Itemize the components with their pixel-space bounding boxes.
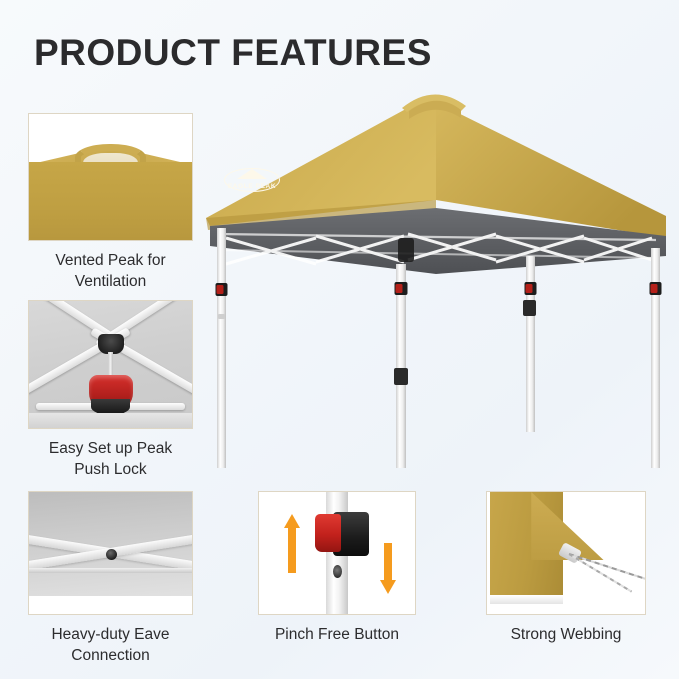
- vented-peak-canopy-body: [28, 162, 193, 240]
- logo-text: EAGLE PEAK: [224, 183, 280, 190]
- eagle-peak-logo: EAGLE PEAK: [224, 168, 280, 192]
- vented-peak-thumbnail: [28, 113, 193, 241]
- feature-card-vented-peak: Vented Peak for Ventilation: [28, 113, 193, 292]
- arrow-down-stem: [384, 543, 392, 582]
- eave-bolt: [106, 549, 117, 560]
- page-title: PRODUCT FEATURES: [34, 32, 432, 74]
- product-features-page: PRODUCT FEATURES: [0, 0, 679, 679]
- feature-card-eave-connection: Heavy-duty Eave Connection: [28, 491, 193, 666]
- push-lock-knob: [89, 375, 133, 411]
- strong-webbing-thumbnail: [486, 491, 646, 615]
- arrow-down-head: [380, 580, 396, 594]
- caption-line-1: Vented Peak for: [28, 250, 193, 271]
- caption-line-1: Strong Webbing: [486, 624, 646, 645]
- feature-card-pinch-free-button: Pinch Free Button: [258, 491, 416, 645]
- feature-caption: Pinch Free Button: [258, 624, 416, 645]
- eave-rail: [29, 568, 192, 573]
- feature-caption: Vented Peak for Ventilation: [28, 250, 193, 292]
- pole-hole: [333, 565, 342, 578]
- hero-canopy-image: EAGLE PEAK: [196, 78, 674, 468]
- feature-card-peak-push-lock: Easy Set up Peak Push Lock: [28, 300, 193, 480]
- arrow-up-icon: [284, 514, 300, 573]
- caption-line-2: Ventilation: [28, 271, 193, 292]
- canopy-hem: [490, 595, 563, 604]
- feature-caption: Easy Set up Peak Push Lock: [28, 438, 193, 480]
- peak-push-lock-thumbnail: [28, 300, 193, 429]
- mountain-peak-icon: [237, 169, 267, 179]
- pinch-free-button-thumbnail: [258, 491, 416, 615]
- arrow-down-icon: [380, 543, 396, 594]
- caption-line-1: Easy Set up Peak: [28, 438, 193, 459]
- eave-connection-thumbnail: [28, 491, 193, 615]
- feature-card-strong-webbing: Strong Webbing: [486, 491, 646, 645]
- feature-caption: Strong Webbing: [486, 624, 646, 645]
- floor-strip: [29, 596, 192, 614]
- floor-strip: [29, 413, 192, 428]
- caption-line-2: Connection: [28, 645, 193, 666]
- red-push-button: [315, 514, 341, 552]
- feature-caption: Heavy-duty Eave Connection: [28, 624, 193, 666]
- caption-line-1: Heavy-duty Eave: [28, 624, 193, 645]
- arrow-up-stem: [288, 526, 296, 573]
- caption-line-1: Pinch Free Button: [258, 624, 416, 645]
- caption-line-2: Push Lock: [28, 459, 193, 480]
